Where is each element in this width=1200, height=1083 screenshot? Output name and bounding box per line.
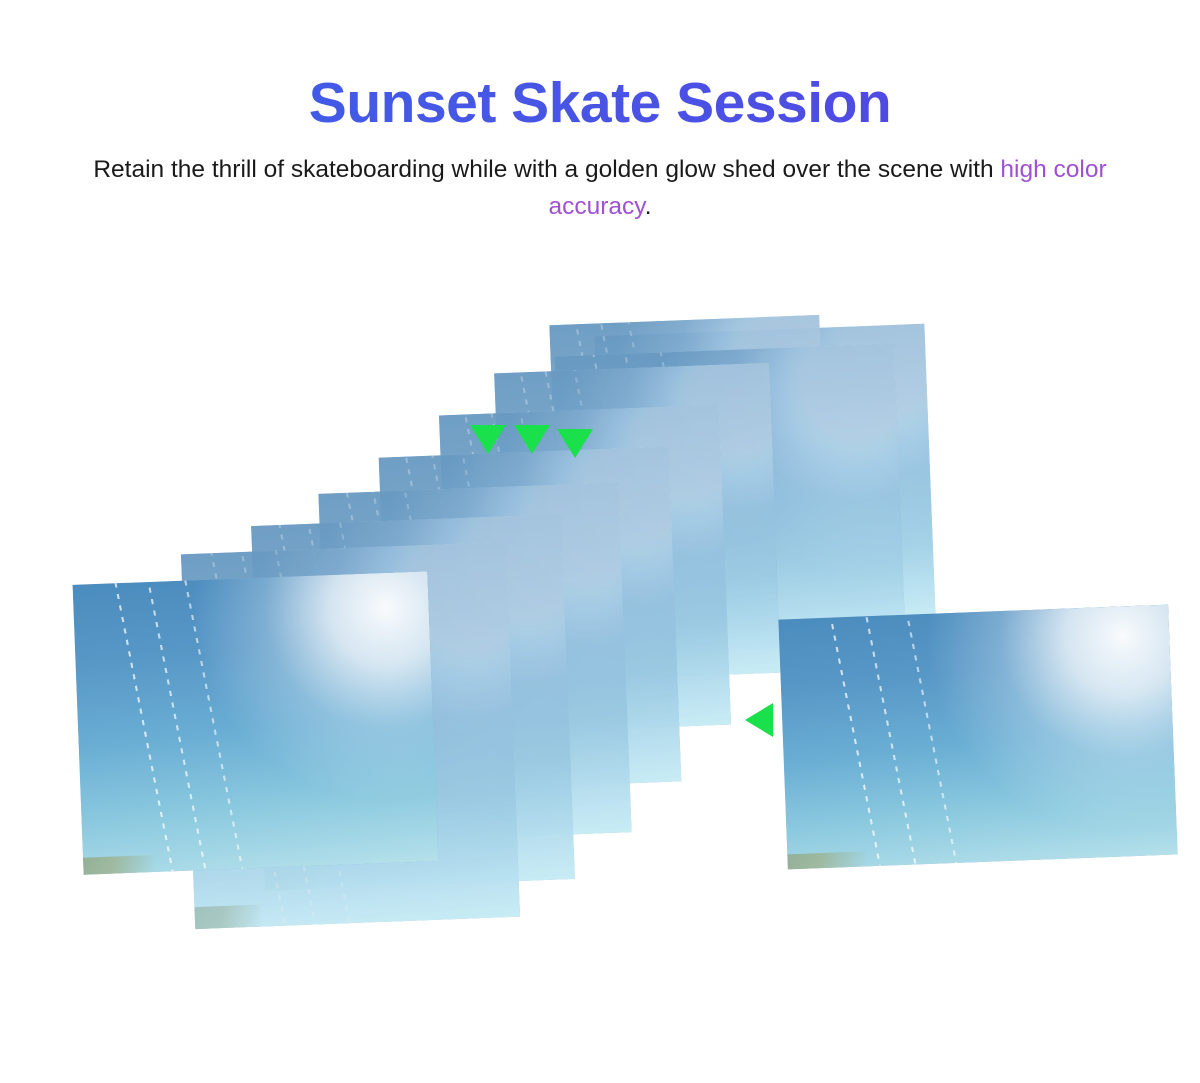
- sea-horizon: [73, 855, 155, 875]
- kite-lines: [778, 605, 1177, 870]
- stacked-frame-front[interactable]: [73, 571, 439, 874]
- kite-lines: [73, 571, 439, 874]
- page-header: Sunset Skate Session Retain the thrill o…: [0, 0, 1200, 225]
- down-arrow-marker-icon[interactable]: [514, 425, 550, 454]
- hero-frame-detail[interactable]: [778, 605, 1177, 870]
- down-arrow-marker-icon[interactable]: [557, 429, 593, 458]
- page-subtitle: Retain the thrill of skateboarding while…: [85, 134, 1115, 225]
- subtitle-lead-text: Retain the thrill of skateboarding while…: [93, 156, 1000, 183]
- subtitle-tail-text: .: [645, 193, 652, 220]
- left-arrow-marker-icon[interactable]: [745, 703, 773, 737]
- sea-horizon: [778, 851, 866, 869]
- down-arrow-marker-icon[interactable]: [470, 425, 506, 454]
- page-title: Sunset Skate Session: [0, 0, 1200, 134]
